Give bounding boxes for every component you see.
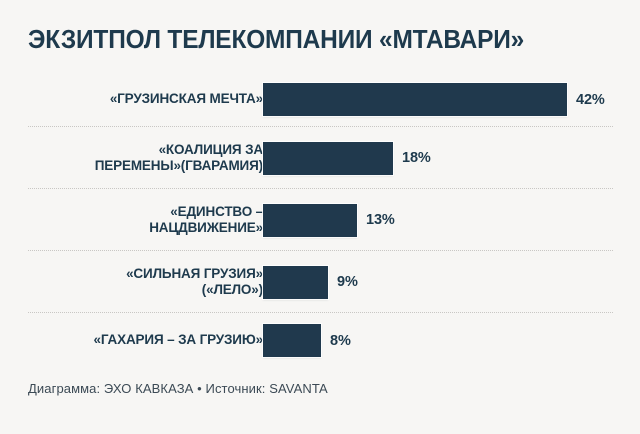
bar xyxy=(263,266,328,299)
bar-category-label: «ГРУЗИНСКАЯ МЕЧТА» xyxy=(23,91,263,108)
bar-row-inner: «СИЛЬНАЯ ГРУЗИЯ» («ЛЕЛО»)9% xyxy=(0,251,640,313)
bar-category-label: «ГАХАРИЯ – ЗА ГРУЗИЮ» xyxy=(23,332,263,349)
bar-row-inner: «ЕДИНСТВО – НАЦДВИЖЕНИЕ»13% xyxy=(0,189,640,251)
bar-value-label: 9% xyxy=(337,274,358,290)
bar-row: «ГРУЗИНСКАЯ МЕЧТА»42% xyxy=(0,72,640,127)
bar-row-inner: «ГАХАРИЯ – ЗА ГРУЗИЮ»8% xyxy=(0,313,640,368)
bar-value-label: 8% xyxy=(330,333,351,349)
bar xyxy=(263,142,393,175)
chart-title: ЭКЗИТПОЛ ТЕЛЕКОМПАНИИ «МТАВАРИ» xyxy=(28,26,524,55)
bar-value-label: 18% xyxy=(402,150,431,166)
chart-credit-footer: Диаграмма: ЭХО КАВКАЗА • Источник: SAVAN… xyxy=(28,381,328,396)
bar-row: «КОАЛИЦИЯ ЗА ПЕРЕМЕНЫ»(ГВАРАМИЯ)18% xyxy=(0,127,640,189)
bar-row: «ГАХАРИЯ – ЗА ГРУЗИЮ»8% xyxy=(0,313,640,368)
bar-category-label: «СИЛЬНАЯ ГРУЗИЯ» («ЛЕЛО») xyxy=(23,266,263,299)
bar-row: «СИЛЬНАЯ ГРУЗИЯ» («ЛЕЛО»)9% xyxy=(0,251,640,313)
bar xyxy=(263,83,567,116)
bar xyxy=(263,324,321,357)
bar-rows: «ГРУЗИНСКАЯ МЕЧТА»42%«КОАЛИЦИЯ ЗА ПЕРЕМЕ… xyxy=(0,72,640,368)
bar-category-label: «ЕДИНСТВО – НАЦДВИЖЕНИЕ» xyxy=(23,204,263,237)
bar-row: «ЕДИНСТВО – НАЦДВИЖЕНИЕ»13% xyxy=(0,189,640,251)
exit-poll-bar-chart: ЭКЗИТПОЛ ТЕЛЕКОМПАНИИ «МТАВАРИ» «ГРУЗИНС… xyxy=(0,0,640,434)
bar-value-label: 13% xyxy=(366,212,395,228)
bar-value-label: 42% xyxy=(576,92,605,108)
bar-category-label: «КОАЛИЦИЯ ЗА ПЕРЕМЕНЫ»(ГВАРАМИЯ) xyxy=(23,142,263,175)
bar-row-inner: «ГРУЗИНСКАЯ МЕЧТА»42% xyxy=(0,72,640,127)
bar-row-inner: «КОАЛИЦИЯ ЗА ПЕРЕМЕНЫ»(ГВАРАМИЯ)18% xyxy=(0,127,640,189)
bar xyxy=(263,204,357,237)
